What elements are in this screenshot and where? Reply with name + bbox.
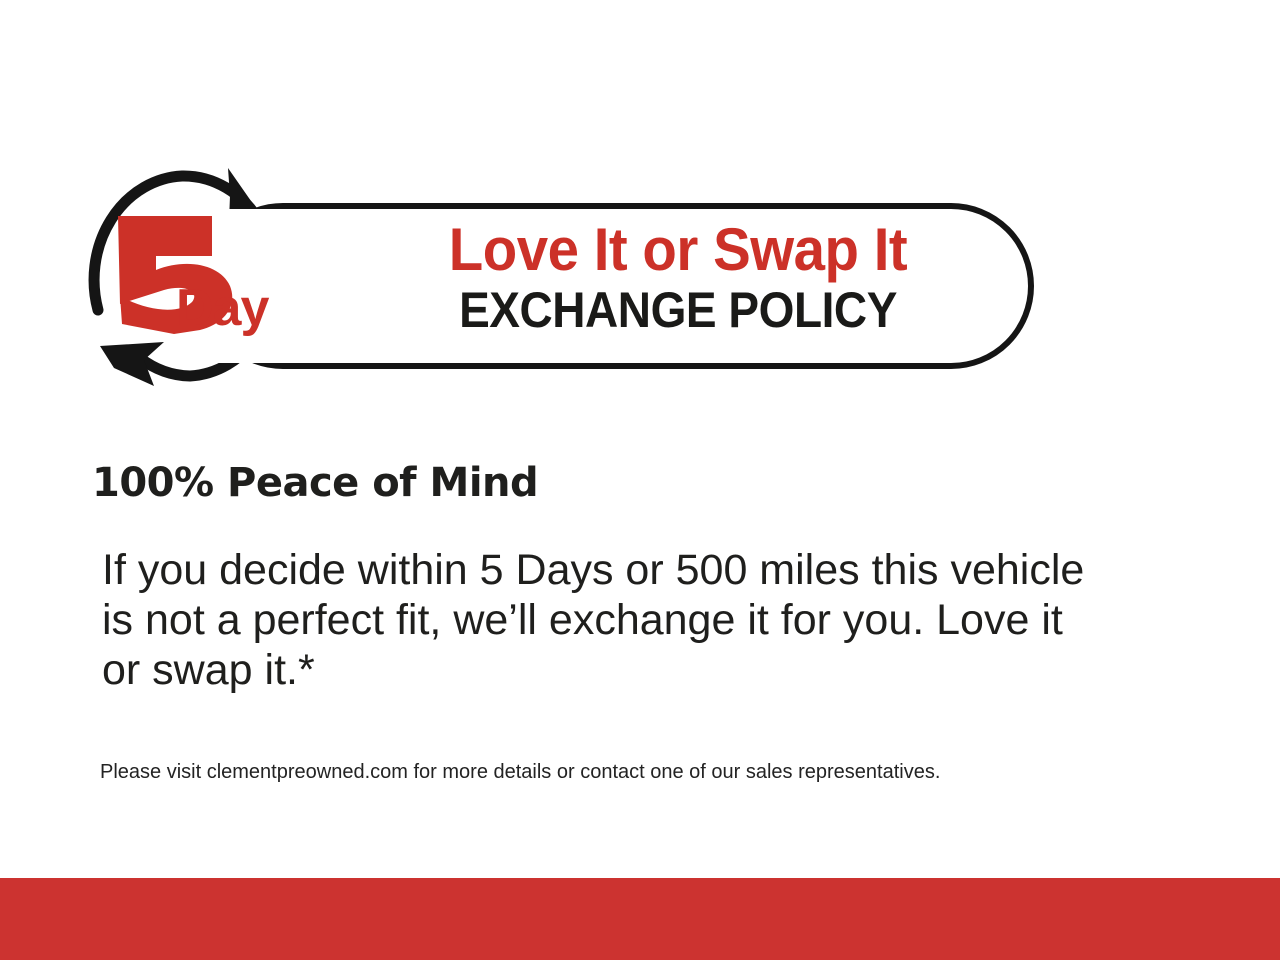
five-day-mark: Day [108,212,288,337]
fine-print-note: Please visit clementpreowned.com for mor… [100,758,1160,786]
page-headline: 100% Peace of Mind [92,460,538,506]
svg-text:Day: Day [176,279,269,337]
badge-headline-red: Love It or Swap It [368,218,988,282]
exchange-policy-slide: Day Love It or Swap It EXCHANGE POLICY 1… [0,0,1280,960]
policy-paragraph: If you decide within 5 Days or 500 miles… [102,545,1092,695]
footer-red-bar [0,878,1280,960]
policy-badge-text: Love It or Swap It EXCHANGE POLICY [348,218,1008,336]
badge-headline-black: EXCHANGE POLICY [374,284,981,336]
exchange-policy-logo-lockup: Day Love It or Swap It EXCHANGE POLICY [78,160,1038,390]
